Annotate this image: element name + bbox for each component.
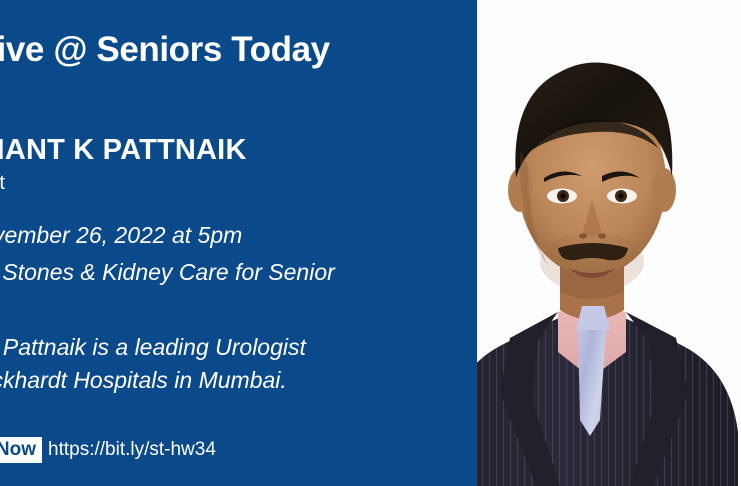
doctor-bio-line-2: Wockhardt Hospitals in Mumbai.: [0, 369, 287, 392]
event-date: y, November 26, 2022 at 5pm: [0, 224, 242, 247]
right-ear: [652, 168, 676, 212]
doctor-name: ASHANT K PATTNAIK: [0, 136, 247, 165]
blue-text-panel: th Live @ Seniors Today ASHANT K PATTNAI…: [0, 0, 477, 486]
doctor-title: Urologist: [0, 173, 5, 193]
right-pupil: [618, 193, 623, 198]
left-pupil: [560, 193, 565, 198]
chin-shadow: [540, 232, 644, 292]
register-now-button[interactable]: Now: [0, 437, 42, 463]
registration-link[interactable]: https://bit.ly/st-hw34: [48, 440, 216, 459]
event-topic: idney Stones & Kidney Care for Senior: [0, 261, 335, 284]
promotional-banner: th Live @ Seniors Today ASHANT K PATTNAI…: [0, 0, 741, 486]
doctor-portrait-image: [440, 0, 741, 486]
portrait-photo-area: [440, 0, 741, 486]
doctor-bio-line-1: hant K Pattnaik is a leading Urologist: [0, 336, 306, 359]
headline: th Live @ Seniors Today: [0, 32, 330, 67]
